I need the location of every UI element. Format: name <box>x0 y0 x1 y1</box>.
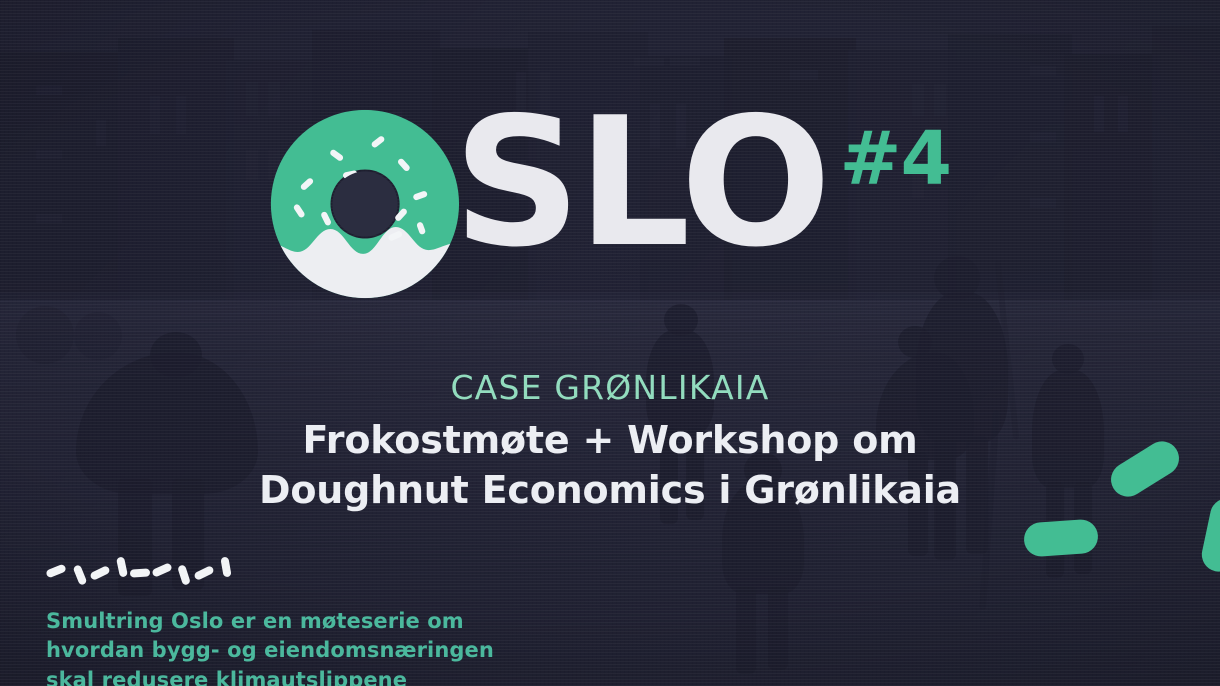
blurb-line-2: hvordan bygg- og eiendomsnæringen <box>46 636 494 666</box>
logo-lockup: SLO #4 <box>0 104 1220 300</box>
blurb-sprinkles <box>46 559 236 593</box>
headline-block: CASE GRØNLIKAIA Frokostmøte + Workshop o… <box>0 368 1220 515</box>
doughnut-hole <box>332 171 397 236</box>
poster-slide: SLO #4 CASE GRØNLIKAIA Frokostmøte + Wor… <box>0 0 1220 686</box>
blurb-line-3: skal redusere klimautslippene <box>46 666 494 686</box>
wordmark-oslo: SLO <box>453 96 828 270</box>
title-line-1: Frokostmøte + Workshop om <box>0 415 1220 465</box>
sprinkle-mid-left <box>1023 518 1099 557</box>
poster-content: SLO #4 CASE GRØNLIKAIA Frokostmøte + Wor… <box>0 0 1220 686</box>
case-kicker: CASE GRØNLIKAIA <box>0 368 1220 407</box>
issue-number-badge: #4 <box>840 122 952 196</box>
blurb-line-1: Smultring Oslo er en møteserie om <box>46 607 494 637</box>
series-blurb: Smultring Oslo er en møteserie om hvorda… <box>46 559 494 686</box>
title-line-2: Doughnut Economics i Grønlikaia <box>0 465 1220 515</box>
doughnut-icon <box>269 108 461 300</box>
